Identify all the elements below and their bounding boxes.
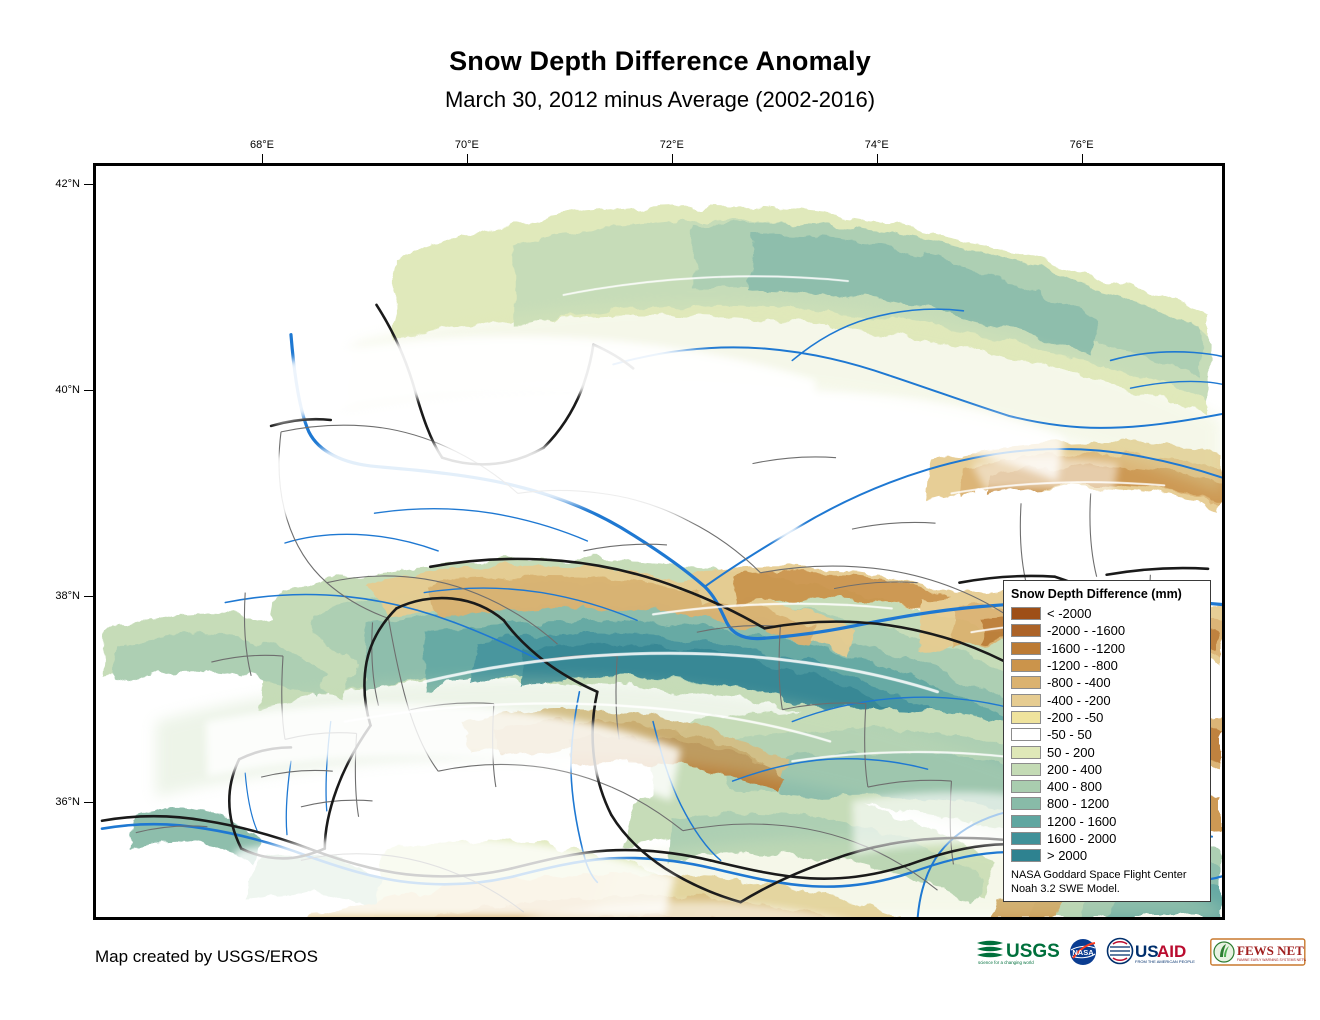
latitude-tick-mark: [84, 184, 93, 185]
legend-swatch: [1011, 797, 1041, 810]
longitude-tick-label: 70°E: [455, 139, 479, 151]
legend-label: 400 - 800: [1047, 779, 1102, 794]
nasa-logo[interactable]: NASA: [1068, 937, 1098, 967]
legend-items: < -2000-2000 - -1600-1600 - -1200-1200 -…: [1011, 605, 1203, 864]
legend-label: 50 - 200: [1047, 745, 1095, 760]
legend-row[interactable]: -50 - 50: [1011, 726, 1203, 743]
svg-text:USGS: USGS: [1006, 941, 1060, 962]
legend-row[interactable]: 1600 - 2000: [1011, 830, 1203, 847]
legend-row[interactable]: 800 - 1200: [1011, 795, 1203, 812]
legend-label: 200 - 400: [1047, 762, 1102, 777]
latitude-tick-label: 36°N: [55, 796, 80, 808]
longitude-tick-mark: [877, 154, 878, 163]
latitude-tick-mark: [84, 596, 93, 597]
legend-swatch: [1011, 728, 1041, 741]
legend-swatch: [1011, 849, 1041, 862]
legend-label: -1200 - -800: [1047, 658, 1118, 673]
title-block: Snow Depth Difference Anomaly March 30, …: [0, 46, 1320, 113]
legend-swatch: [1011, 642, 1041, 655]
legend-label: -2000 - -1600: [1047, 623, 1125, 638]
longitude-tick-mark: [262, 154, 263, 163]
legend-credit: NASA Goddard Space Flight Center Noah 3.…: [1011, 869, 1203, 896]
svg-text:NASA: NASA: [1072, 948, 1094, 957]
legend-credit-line-1: NASA Goddard Space Flight Center: [1011, 869, 1203, 882]
page-subtitle: March 30, 2012 minus Average (2002-2016): [0, 87, 1320, 113]
legend-label: 1600 - 2000: [1047, 831, 1116, 846]
svg-text:FROM THE AMERICAN PEOPLE: FROM THE AMERICAN PEOPLE: [1135, 959, 1195, 964]
footer-credit: Map created by USGS/EROS: [95, 947, 318, 967]
latitude-tick-mark: [84, 802, 93, 803]
fewsnet-logo[interactable]: FEWS NET FAMINE EARLY WARNING SYSTEMS NE…: [1210, 937, 1306, 967]
legend-label: -400 - -200: [1047, 693, 1111, 708]
legend-label: -200 - -50: [1047, 710, 1103, 725]
longitude-tick-label: 68°E: [250, 139, 274, 151]
legend-swatch: [1011, 763, 1041, 776]
usaid-logo[interactable]: US AID FROM THE AMERICAN PEOPLE: [1105, 937, 1203, 967]
svg-text:science for a changing world: science for a changing world: [978, 960, 1034, 965]
latitude-tick-label: 38°N: [55, 590, 80, 602]
legend-swatch: [1011, 815, 1041, 828]
longitude-tick-label: 72°E: [660, 139, 684, 151]
legend-label: -50 - 50: [1047, 727, 1092, 742]
legend-row[interactable]: -1600 - -1200: [1011, 640, 1203, 657]
page-title: Snow Depth Difference Anomaly: [0, 46, 1320, 77]
svg-text:FAMINE EARLY WARNING SYSTEMS N: FAMINE EARLY WARNING SYSTEMS NETWORK: [1237, 958, 1306, 962]
usgs-logo[interactable]: USGS science for a changing world: [975, 937, 1061, 967]
legend-swatch: [1011, 624, 1041, 637]
legend-label: -800 - -400: [1047, 675, 1111, 690]
legend-swatch: [1011, 659, 1041, 672]
legend-row[interactable]: -800 - -400: [1011, 674, 1203, 691]
legend-swatch: [1011, 607, 1041, 620]
logo-bar: USGS science for a changing world NASA U…: [975, 933, 1306, 971]
latitude-tick-label: 42°N: [55, 178, 80, 190]
legend-label: < -2000: [1047, 606, 1091, 621]
legend-label: -1600 - -1200: [1047, 641, 1125, 656]
legend-swatch: [1011, 832, 1041, 845]
legend-panel[interactable]: Snow Depth Difference (mm) < -2000-2000 …: [1003, 580, 1211, 902]
legend-label: 800 - 1200: [1047, 796, 1109, 811]
latitude-tick-label: 40°N: [55, 384, 80, 396]
legend-row[interactable]: -200 - -50: [1011, 709, 1203, 726]
legend-row[interactable]: 1200 - 1600: [1011, 813, 1203, 830]
legend-row[interactable]: 50 - 200: [1011, 743, 1203, 760]
legend-row[interactable]: > 2000: [1011, 847, 1203, 864]
legend-row[interactable]: -400 - -200: [1011, 691, 1203, 708]
legend-label: 1200 - 1600: [1047, 814, 1116, 829]
legend-row[interactable]: < -2000: [1011, 605, 1203, 622]
legend-credit-line-2: Noah 3.2 SWE Model.: [1011, 883, 1203, 896]
longitude-tick-label: 74°E: [865, 139, 889, 151]
legend-swatch: [1011, 780, 1041, 793]
legend-swatch: [1011, 694, 1041, 707]
legend-row[interactable]: 400 - 800: [1011, 778, 1203, 795]
longitude-tick-mark: [467, 154, 468, 163]
longitude-tick-mark: [672, 154, 673, 163]
legend-label: > 2000: [1047, 848, 1087, 863]
legend-swatch: [1011, 746, 1041, 759]
legend-swatch: [1011, 711, 1041, 724]
legend-title: Snow Depth Difference (mm): [1011, 587, 1203, 601]
legend-row[interactable]: 200 - 400: [1011, 761, 1203, 778]
legend-row[interactable]: -1200 - -800: [1011, 657, 1203, 674]
legend-row[interactable]: -2000 - -1600: [1011, 622, 1203, 639]
latitude-tick-mark: [84, 390, 93, 391]
longitude-tick-label: 76°E: [1070, 139, 1094, 151]
legend-swatch: [1011, 676, 1041, 689]
svg-text:FEWS NET: FEWS NET: [1237, 943, 1304, 958]
longitude-tick-mark: [1082, 154, 1083, 163]
